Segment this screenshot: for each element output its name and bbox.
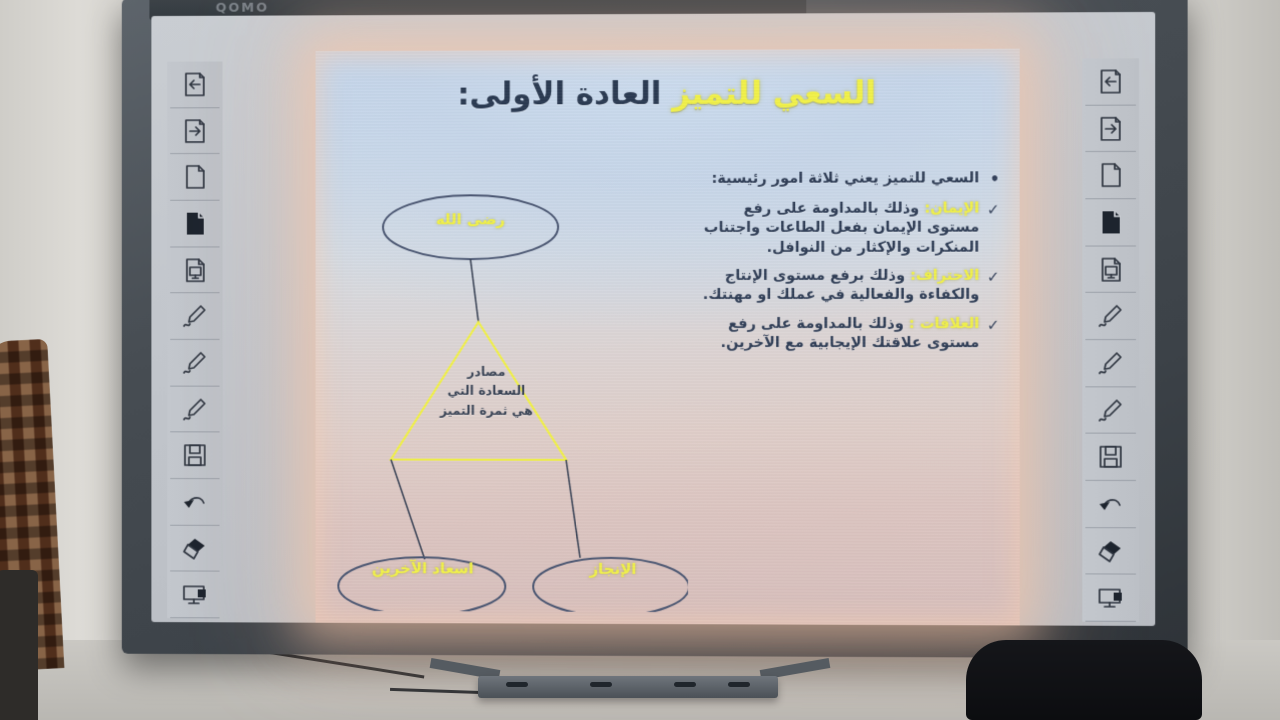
bullet-highlight: العلاقات : (909, 316, 979, 332)
node-label-bottom-right: الإنجاز (543, 560, 683, 578)
office-chair (966, 640, 1202, 720)
tray-slot (674, 682, 696, 687)
page-forward-icon[interactable] (1085, 105, 1136, 152)
connector-top (470, 259, 478, 322)
bullet-list: • السعي للتميز يعني ثلاثة امور رئيسية: ✓… (698, 169, 999, 363)
pen-icon[interactable] (170, 294, 219, 340)
pen-icon[interactable] (170, 340, 219, 386)
triangle-label: مصادر السعادة التي هي ثمرة التميز (417, 362, 556, 420)
pen-tray[interactable] (478, 676, 778, 698)
pen-icon[interactable] (1085, 340, 1136, 387)
list-item: ✓ الاحتراف: وذلك برفع مستوى الإنتاج والك… (698, 267, 999, 306)
desktop-icon[interactable] (170, 572, 219, 619)
triangle-line-2: السعادة التي (417, 381, 556, 400)
triangle-line-3: هي ثمرة التميز (417, 401, 556, 420)
check-icon: ✓ (985, 267, 999, 288)
new-page-icon[interactable] (170, 154, 219, 200)
check-icon: ✓ (985, 199, 999, 220)
pen-icon[interactable] (1085, 387, 1136, 434)
title-dark: العادة الأولى: (457, 76, 661, 113)
list-item: ✓ الإيمان: وذلك بالمداومة على رفع مستوى … (698, 199, 999, 258)
toolbar-left[interactable] (167, 61, 222, 618)
screen-capture-icon[interactable] (1085, 246, 1136, 293)
save-icon[interactable] (1085, 434, 1136, 481)
page-back-icon[interactable] (1085, 58, 1136, 105)
undo-icon[interactable] (170, 479, 219, 526)
tray-slot (506, 682, 528, 687)
page-back-icon[interactable] (170, 62, 219, 109)
bullet-text: الاحتراف: وذلك برفع مستوى الإنتاج والكفا… (698, 267, 979, 306)
tray-slot (590, 682, 612, 687)
wall-right (1220, 0, 1280, 720)
eraser-icon[interactable] (1085, 528, 1136, 575)
page-forward-icon[interactable] (170, 108, 219, 155)
triangle-line-1: مصادر (417, 362, 556, 381)
list-item: • السعي للتميز يعني ثلاثة امور رئيسية: (698, 169, 999, 190)
pen-icon[interactable] (1085, 293, 1136, 340)
bullet-text: السعي للتميز يعني ثلاثة امور رئيسية: (698, 169, 979, 189)
check-icon: ✓ (985, 315, 999, 336)
new-page-icon[interactable] (1085, 152, 1136, 199)
black-page-icon[interactable] (170, 201, 219, 247)
save-icon[interactable] (170, 433, 219, 479)
classroom-scene: QOMO (0, 0, 1280, 720)
bullet-highlight: الاحتراف: (910, 268, 979, 284)
page-title: السعي للتميز العادة الأولى: (316, 75, 1020, 113)
list-item: ✓ العلاقات : وذلك بالمداومة على رفع مستو… (698, 315, 999, 354)
undo-icon[interactable] (1085, 481, 1136, 528)
bullet-text: العلاقات : وذلك بالمداومة على رفع مستوى … (698, 315, 979, 354)
pyramid-diagram: رضى الله مصادر السعادة التي هي ثمرة التم… (329, 162, 688, 612)
screen-capture-icon[interactable] (170, 247, 219, 293)
board-surface[interactable]: السعي للتميز العادة الأولى: • السعي للتم… (151, 12, 1155, 626)
node-label-bottom-left: اسعاد الآخرين (333, 559, 512, 578)
connector-left (391, 460, 425, 560)
tray-slot (728, 682, 750, 687)
bullet-highlight: الإيمان: (924, 200, 979, 216)
projected-slide[interactable]: السعي للتميز العادة الأولى: • السعي للتم… (316, 49, 1020, 626)
toolbar-right[interactable] (1082, 58, 1139, 622)
bullet-marker: • (985, 169, 999, 190)
title-yellow: السعي للتميز (672, 75, 876, 112)
interactive-whiteboard[interactable]: QOMO (122, 0, 1188, 658)
black-page-icon[interactable] (1085, 199, 1136, 246)
node-label-top: رضى الله (381, 210, 560, 228)
person-lower-body (0, 570, 38, 720)
pen-icon[interactable] (170, 386, 219, 432)
connector-right (566, 460, 580, 558)
desktop-icon[interactable] (1085, 575, 1136, 622)
bullet-text: الإيمان: وذلك بالمداومة على رفع مستوى ال… (698, 199, 979, 258)
eraser-icon[interactable] (170, 525, 219, 572)
